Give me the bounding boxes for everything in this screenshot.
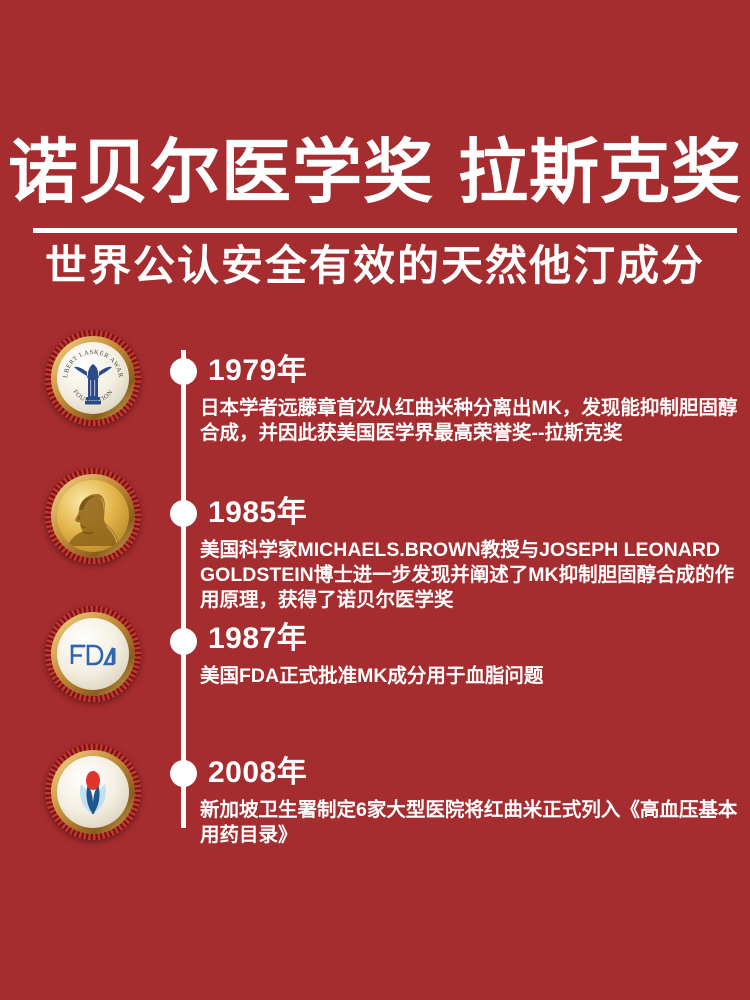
entry-description-3: 美国FDA正式批准MK成分用于血脂问题 bbox=[200, 664, 745, 689]
lasker-award-medal-icon: ALBERT LASKER AWARD FOUNDATION bbox=[45, 330, 141, 426]
singapore-moh-medal-icon bbox=[45, 744, 141, 840]
page-title-part2: 拉斯克奖 bbox=[458, 133, 742, 211]
timeline-dot-3 bbox=[170, 628, 197, 655]
timeline-entry-2: 1985年 bbox=[208, 496, 307, 530]
fda-logo-medal-icon bbox=[45, 606, 141, 702]
entry-year: 1985年 bbox=[208, 496, 307, 530]
entry-description-1: 日本学者远藤章首次从红曲米种分离出MK，发现能抑制胆固醇合成，并因此获美国医学界… bbox=[200, 396, 745, 446]
entry-description-4: 新加坡卫生署制定6家大型医院将红曲米正式列入《高血压基本用药目录》 bbox=[200, 798, 745, 848]
entry-year: 1979年 bbox=[208, 354, 307, 388]
timeline-entry-1: 1979年 bbox=[208, 354, 307, 388]
nobel-prize-medal-icon bbox=[45, 468, 141, 564]
page-title: 诺贝尔医学奖拉斯克奖 bbox=[0, 130, 750, 214]
medal-face bbox=[57, 618, 129, 690]
timeline-entry-4: 2008年 bbox=[208, 756, 307, 790]
timeline-rail bbox=[181, 350, 186, 828]
title-divider bbox=[33, 228, 737, 233]
entry-year: 2008年 bbox=[208, 756, 307, 790]
entry-year: 1987年 bbox=[208, 622, 307, 656]
medal-face: ALBERT LASKER AWARD FOUNDATION bbox=[57, 342, 129, 414]
timeline-dot-1 bbox=[170, 358, 197, 385]
timeline-entry-3: 1987年 bbox=[208, 622, 307, 656]
timeline-dot-2 bbox=[170, 500, 197, 527]
page-subtitle: 世界公认安全有效的天然他汀成分 bbox=[0, 240, 750, 292]
page-title-part1: 诺贝尔医学奖 bbox=[8, 133, 434, 211]
medal-face bbox=[57, 480, 129, 552]
page-header: 诺贝尔医学奖拉斯克奖 bbox=[0, 130, 750, 214]
entry-description-2: 美国科学家MICHAELS.BROWN教授与JOSEPH LEONARD GOL… bbox=[200, 538, 745, 613]
medal-face bbox=[57, 756, 129, 828]
timeline-dot-4 bbox=[170, 760, 197, 787]
